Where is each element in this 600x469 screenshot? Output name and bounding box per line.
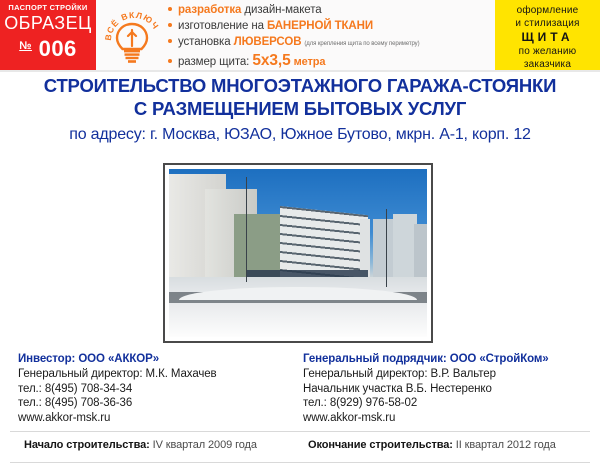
header-divider [0,70,600,72]
project-address: по адресу: г. Москва, ЮЗАО, Южное Бутово… [0,123,600,147]
badge-number-value: 006 [39,36,77,61]
feature-text: разработка дизайн-макета [178,4,322,16]
investor-phone-2: тел.: 8(495) 708-36-36 [18,396,303,411]
feature-accent: БАНЕРНОЙ ТКАНИ [267,20,373,32]
feature-text: размер щита: 5х3,5 метра [178,52,325,70]
badge-number: № 006 [0,34,96,61]
footer-divider-bottom [10,462,590,463]
photo-lamp-post [386,209,387,286]
feature-plain: дизайн-макета [241,4,321,16]
promo-line-3: ЩИТА [499,30,596,45]
photo-tower-3 [414,224,427,279]
feature-plain: установка [178,36,234,48]
bullet-dot-icon [168,39,172,43]
investor-director: Генеральный директор: М.К. Махачев [18,367,303,382]
construction-end: Окончание строительства: II квартал 2012… [308,437,556,453]
construction-end-label: Окончание строительства: [308,439,453,451]
investor-heading: Инвестор: ООО «АККОР» [18,352,303,367]
feature-list: разработка дизайн-макета изготовление на… [168,4,488,70]
feature-item: разработка дизайн-макета [168,4,488,20]
construction-start: Начало строительства: IV квартал 2009 го… [24,437,257,453]
construction-site-photo [169,169,427,337]
construction-end-value: II квартал 2012 года [456,439,556,451]
feature-plain: размер щита: [178,56,252,68]
feature-plain: изготовление на [178,20,267,32]
badge-word: ОБРАЗЕЦ [0,13,96,34]
promo-line-4: по желанию [499,45,596,58]
feature-accent-unit: метра [291,56,326,68]
title-line-1: СТРОИТЕЛЬСТВО МНОГОЭТАЖНОГО ГАРАЖА-СТОЯН… [0,74,600,97]
lightbulb-icon: ВСЁ ВКЛЮЧЕНО [99,2,165,68]
construction-start-value: IV квартал 2009 года [153,439,257,451]
footer-dates: Начало строительства: IV квартал 2009 го… [0,437,600,459]
feature-text: установка ЛЮВЕРСОВ [178,36,301,48]
feature-accent: разработка [178,4,241,16]
contractor-website[interactable]: www.akkor-msk.ru [303,411,593,426]
feature-item: установка ЛЮВЕРСОВ (для крепления щита п… [168,36,488,52]
title-line-2: С РАЗМЕЩЕНИЕМ БЫТОВЫХ УСЛУГ [0,97,600,120]
feature-accent: 5х3,5 [252,52,290,69]
construction-start-label: Начало строительства: [24,439,150,451]
photo-frame [163,163,433,343]
bullet-dot-icon [168,59,172,63]
header-band: ПАСПОРТ СТРОЙКИ ОБРАЗЕЦ № 006 ВСЁ ВКЛЮЧЕ… [0,0,600,70]
promo-line-1: оформление [499,4,596,17]
contractor-director: Генеральный директор: В.Р. Вальтер [303,367,593,382]
investor-block: Инвестор: ООО «АККОР» Генеральный директ… [18,352,303,425]
photo-green-facade [234,214,286,276]
contractor-block: Генеральный подрядчик: ООО «СтройКом» Ге… [303,352,593,425]
investor-phone-1: тел.: 8(495) 708-34-34 [18,382,303,397]
construction-billboard: ПАСПОРТ СТРОЙКИ ОБРАЗЕЦ № 006 ВСЁ ВКЛЮЧЕ… [0,0,600,469]
contractor-phone: тел.: 8(929) 976-58-02 [303,396,593,411]
footer-divider-top [10,431,590,432]
photo-tower-1 [373,219,394,279]
feature-accent: ЛЮВЕРСОВ [234,36,302,48]
contractor-site-manager: Начальник участка В.Б. Нестеренко [303,382,593,397]
bullet-dot-icon [168,23,172,27]
feature-item: изготовление на БАНЕРНОЙ ТКАНИ [168,20,488,36]
photo-lamp-post [246,177,247,281]
page-title: СТРОИТЕЛЬСТВО МНОГОЭТАЖНОГО ГАРАЖА-СТОЯН… [0,74,600,147]
yellow-promo-panel: оформление и стилизация ЩИТА по желанию … [495,0,600,70]
contacts-section: Инвестор: ООО «АККОР» Генеральный директ… [0,352,600,424]
investor-website[interactable]: www.akkor-msk.ru [18,411,303,426]
bullet-dot-icon [168,7,172,11]
feature-note: (для крепления щита по всему периметру) [304,41,419,47]
badge-kicker: ПАСПОРТ СТРОЙКИ [0,3,96,13]
contractor-heading: Генеральный подрядчик: ООО «СтройКом» [303,352,593,367]
sample-badge: ПАСПОРТ СТРОЙКИ ОБРАЗЕЦ № 006 [0,0,96,70]
badge-number-prefix: № [19,40,32,52]
feature-text: изготовление на БАНЕРНОЙ ТКАНИ [178,20,373,32]
photo-snow [169,303,427,337]
promo-line-2: и стилизация [499,17,596,30]
feature-item: размер щита: 5х3,5 метра [168,52,488,70]
